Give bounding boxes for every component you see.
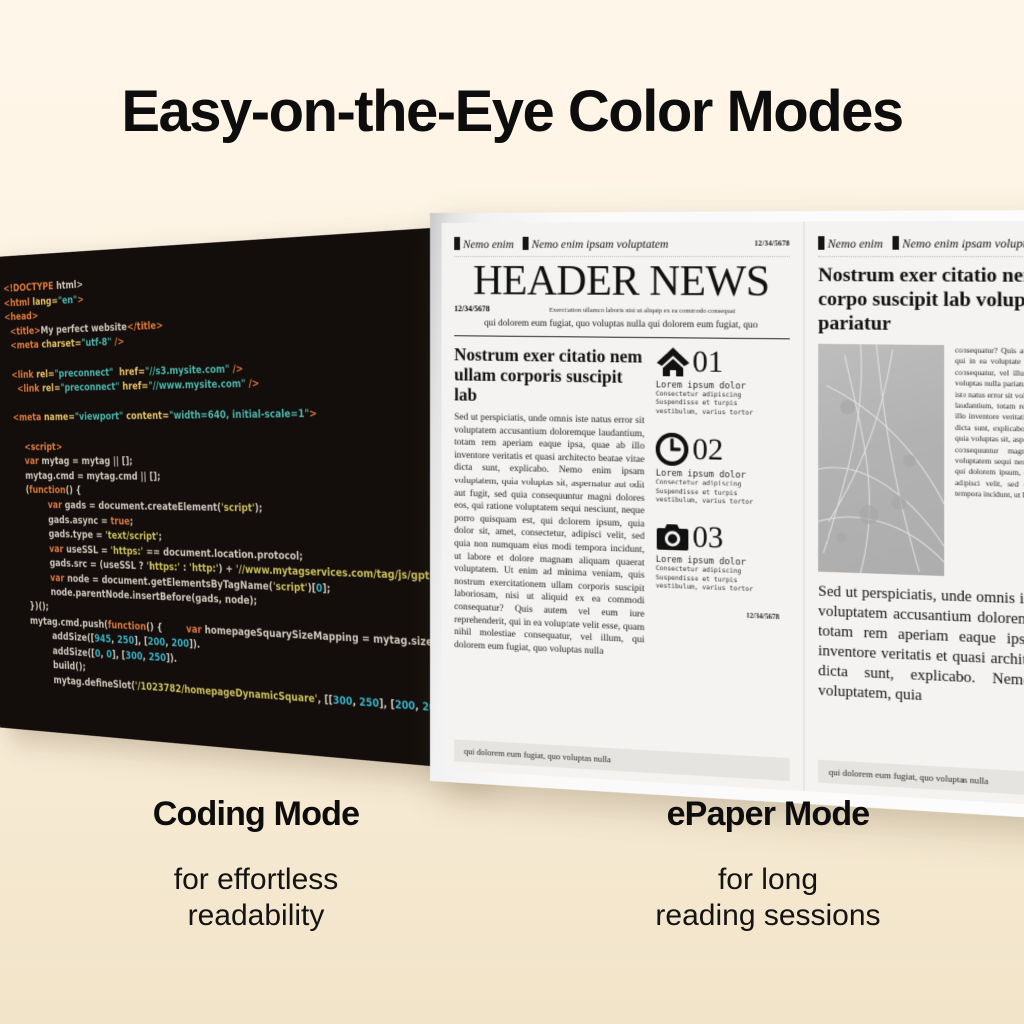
article-large-column: Sed ut perspiciatis, unde omnis iste nat… — [818, 582, 1024, 717]
article-column: Nostrum exer citatio nem ullam corporis … — [454, 344, 644, 660]
article-photo — [818, 344, 944, 576]
caption-subtitle: for long reading sessions — [512, 862, 1024, 934]
epaper-mode-monitor[interactable]: Nemo enim Nemo enim ipsam voluptatem 12/… — [430, 209, 1024, 824]
page1-columns: Nostrum exer citatio nem ullam corporis … — [454, 344, 790, 667]
divider — [454, 256, 790, 257]
feature-number: 03 — [692, 522, 723, 554]
kicker-item-1: Nemo enim — [818, 236, 883, 251]
page2-date: 12/34 — [818, 705, 1024, 730]
caption-subtitle: for effortless readability — [0, 862, 512, 934]
kicker-label-2: Nemo enim ipsam voluptatem — [902, 238, 1024, 251]
epaper-screen[interactable]: Nemo enim Nemo enim ipsam voluptatem 12/… — [442, 220, 1024, 812]
page-title: Easy-on-the-Eye Color Modes — [0, 78, 1024, 145]
promo-graphic: Easy-on-the-Eye Color Modes <!DOCTYPE ht… — [0, 0, 1024, 1024]
masthead-date: 12/34/5678 — [454, 304, 490, 313]
divider — [454, 335, 790, 339]
page2-kicker-row: Nemo enim Nemo enim ipsam voluptatem 12/… — [818, 236, 1024, 251]
divider — [818, 256, 1024, 257]
feature-desc: Consectetur adipiscing Suspendisse et tu… — [656, 565, 780, 596]
feature-title: Lorem ipsum dolor — [656, 555, 780, 570]
kicker-label-1: Nemo enim — [463, 239, 514, 251]
kicker-label-2: Nemo enim ipsam voluptatem — [532, 239, 669, 251]
feature-list: 01 Lorem ipsum dolor Consectetur adipisc… — [656, 346, 780, 666]
masthead-tagline: Exercitation ullamco laboris nisi ut ali… — [498, 306, 790, 315]
caption-epaper-mode: ePaper Mode for long reading sessions — [512, 795, 1024, 934]
kicker-item-2: Nemo enim ipsam voluptatem — [893, 236, 1024, 251]
kicker-square-icon — [818, 236, 824, 250]
kicker-square-icon — [893, 236, 899, 250]
feature-desc: Consectetur adipiscing Suspendisse et tu… — [656, 390, 780, 418]
newspaper-page-2: Nemo enim Nemo enim ipsam voluptatem 12/… — [804, 220, 1024, 812]
photo-lines — [818, 344, 944, 576]
caption-title: ePaper Mode — [512, 795, 1024, 834]
kicker-date: 12/34/5678 — [754, 239, 789, 247]
feature-title: Lorem ipsum dolor — [656, 469, 780, 482]
article-headline: Nostrum exer citatio nem ullam corpo sus… — [818, 263, 1024, 338]
code-listing: <!DOCTYPE html><html lang="en"><head> <t… — [3, 256, 478, 720]
feature-item: 02 Lorem ipsum dolor Consectetur adipisc… — [656, 433, 780, 509]
kicker-square-icon — [523, 237, 529, 250]
newspaper-page-1: Nemo enim Nemo enim ipsam voluptatem 12/… — [442, 222, 805, 792]
feature-number: 02 — [692, 435, 723, 467]
feature-item: 03 Lorem ipsum dolor Consectetur adipisc… — [656, 521, 780, 596]
feature-desc: Consectetur adipiscing Suspendisse et tu… — [656, 479, 780, 508]
feature-title: Lorem ipsum dolor — [656, 380, 780, 392]
coding-mode-monitor[interactable]: <!DOCTYPE html><html lang="en"><head> <t… — [0, 226, 480, 770]
code-editor-panel[interactable]: <!DOCTYPE html><html lang="en"><head> <t… — [0, 226, 480, 770]
caption-title: Coding Mode — [0, 795, 512, 834]
masthead-deck: qui dolorem eum fugiat, quo voluptas nul… — [454, 318, 790, 331]
article-small-column: consequatur? Quis autem vel eum iure rep… — [955, 345, 1024, 583]
kicker-square-icon — [454, 237, 460, 250]
feature-date: 12/34/5678 — [656, 608, 780, 621]
caption-coding-mode: Coding Mode for effortless readability — [0, 795, 512, 934]
kicker-item-2: Nemo enim ipsam voluptatem — [523, 237, 669, 251]
masthead-subrow: 12/34/5678 Exercitation ullamco laboris … — [454, 304, 790, 315]
device-scene: <!DOCTYPE html><html lang="en"><head> <t… — [0, 205, 1024, 805]
article-headline: Nostrum exer citatio nem ullam corporis … — [454, 344, 644, 407]
kicker-label-1: Nemo enim — [828, 238, 883, 251]
article-body: Sed ut perspiciatis, unde omnis iste nat… — [454, 411, 644, 660]
masthead-title: HEADER NEWS — [454, 259, 790, 305]
page1-kicker-row: Nemo enim Nemo enim ipsam voluptatem 12/… — [454, 236, 790, 251]
feature-item: 01 Lorem ipsum dolor Consectetur adipisc… — [656, 346, 780, 418]
feature-number: 01 — [692, 347, 723, 378]
mode-captions: Coding Mode for effortless readability e… — [0, 795, 1024, 934]
